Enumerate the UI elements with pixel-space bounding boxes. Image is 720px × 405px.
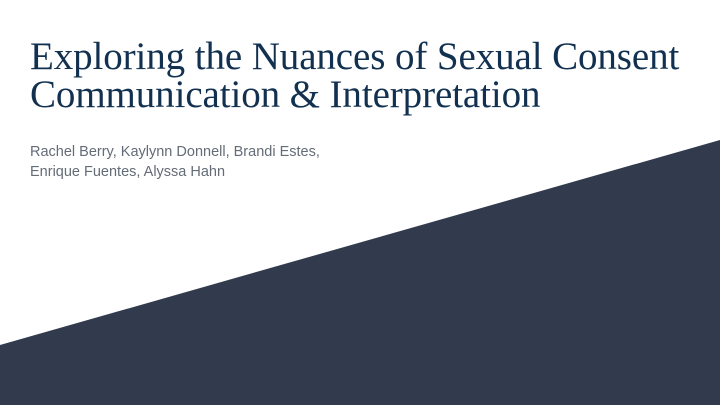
page-title: Exploring the Nuances of Sexual Consent … (30, 38, 700, 114)
title-slide: Exploring the Nuances of Sexual Consent … (0, 0, 720, 405)
author-list: Rachel Berry, Kaylynn Donnell, Brandi Es… (30, 114, 700, 182)
title-text-block: Exploring the Nuances of Sexual Consent … (30, 38, 700, 182)
